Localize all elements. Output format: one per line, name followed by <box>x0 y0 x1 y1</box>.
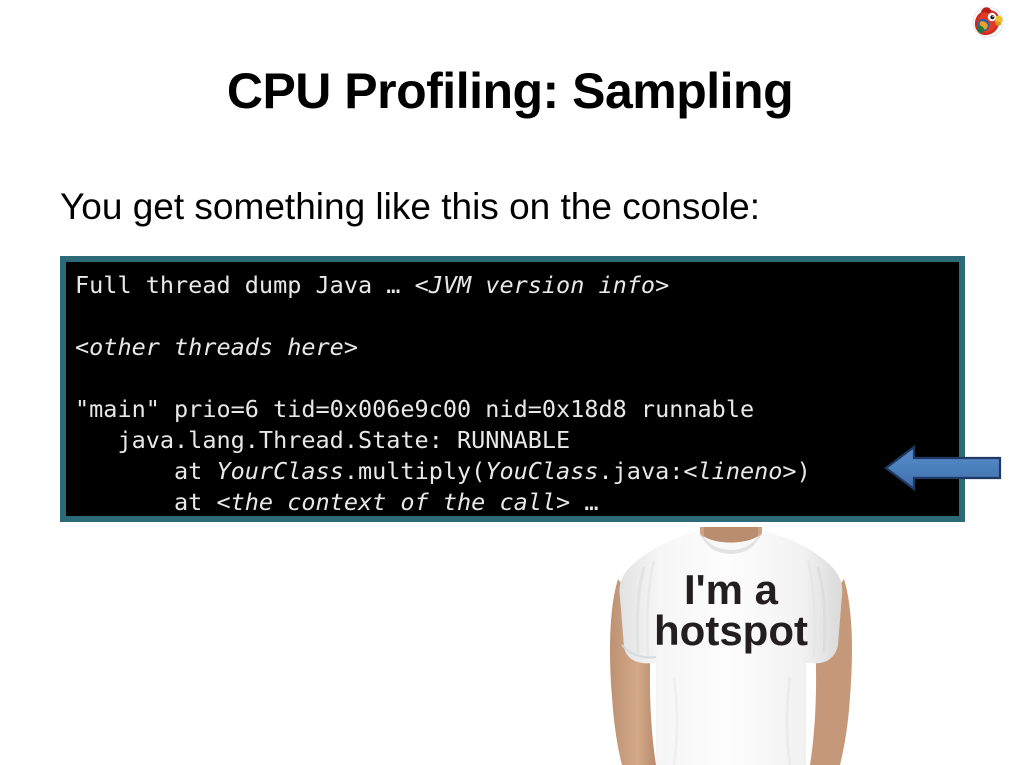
console-text: "main" prio=6 tid=0x006e9c00 nid=0x18d8 … <box>75 395 754 423</box>
slide-subtitle: You get something like this on the conso… <box>60 186 760 228</box>
console-text-area: Full thread dump Java … <JVM version inf… <box>75 270 959 516</box>
console-placeholder-text: <other threads here> <box>75 333 358 361</box>
console-text: at <box>75 488 216 516</box>
console-line: at YourClass.multiply(YouClass.java:<lin… <box>75 456 959 487</box>
console-text: Full thread dump Java … <box>75 271 415 299</box>
console-text: ) <box>797 457 811 485</box>
console-placeholder-text: <the context of the call> <box>216 488 570 516</box>
console-line: at <the context of the call> … <box>75 487 959 518</box>
console-placeholder-text: YourClass <box>216 457 343 485</box>
console-line: <other threads here> <box>75 332 959 363</box>
console-text: .multiply( <box>344 457 485 485</box>
tshirt-photo: I'm a hotspot <box>604 527 858 765</box>
console-text: at <box>75 457 216 485</box>
console-line: Full thread dump Java … <JVM version inf… <box>75 270 959 301</box>
console-line: "main" prio=6 tid=0x006e9c00 nid=0x18d8 … <box>75 394 959 425</box>
console-text: … <box>570 488 598 516</box>
console-line <box>75 363 959 394</box>
console-placeholder-text: <lineno> <box>683 457 796 485</box>
console-line: java.lang.Thread.State: RUNNABLE <box>75 425 959 456</box>
page-title: CPU Profiling: Sampling <box>0 62 1020 120</box>
parrot-logo-icon <box>968 4 1008 40</box>
arrow-left-icon <box>884 443 1002 493</box>
svg-text:hotspot: hotspot <box>654 607 808 654</box>
svg-text:I'm a: I'm a <box>684 566 779 613</box>
console-line <box>75 301 959 332</box>
console-output-box: Full thread dump Java … <JVM version inf… <box>60 256 965 522</box>
console-placeholder-text: YouClass <box>485 457 598 485</box>
console-text: java.lang.Thread.State: RUNNABLE <box>75 426 570 454</box>
console-text: .java: <box>599 457 684 485</box>
console-placeholder-text: <JVM version info> <box>415 271 670 299</box>
